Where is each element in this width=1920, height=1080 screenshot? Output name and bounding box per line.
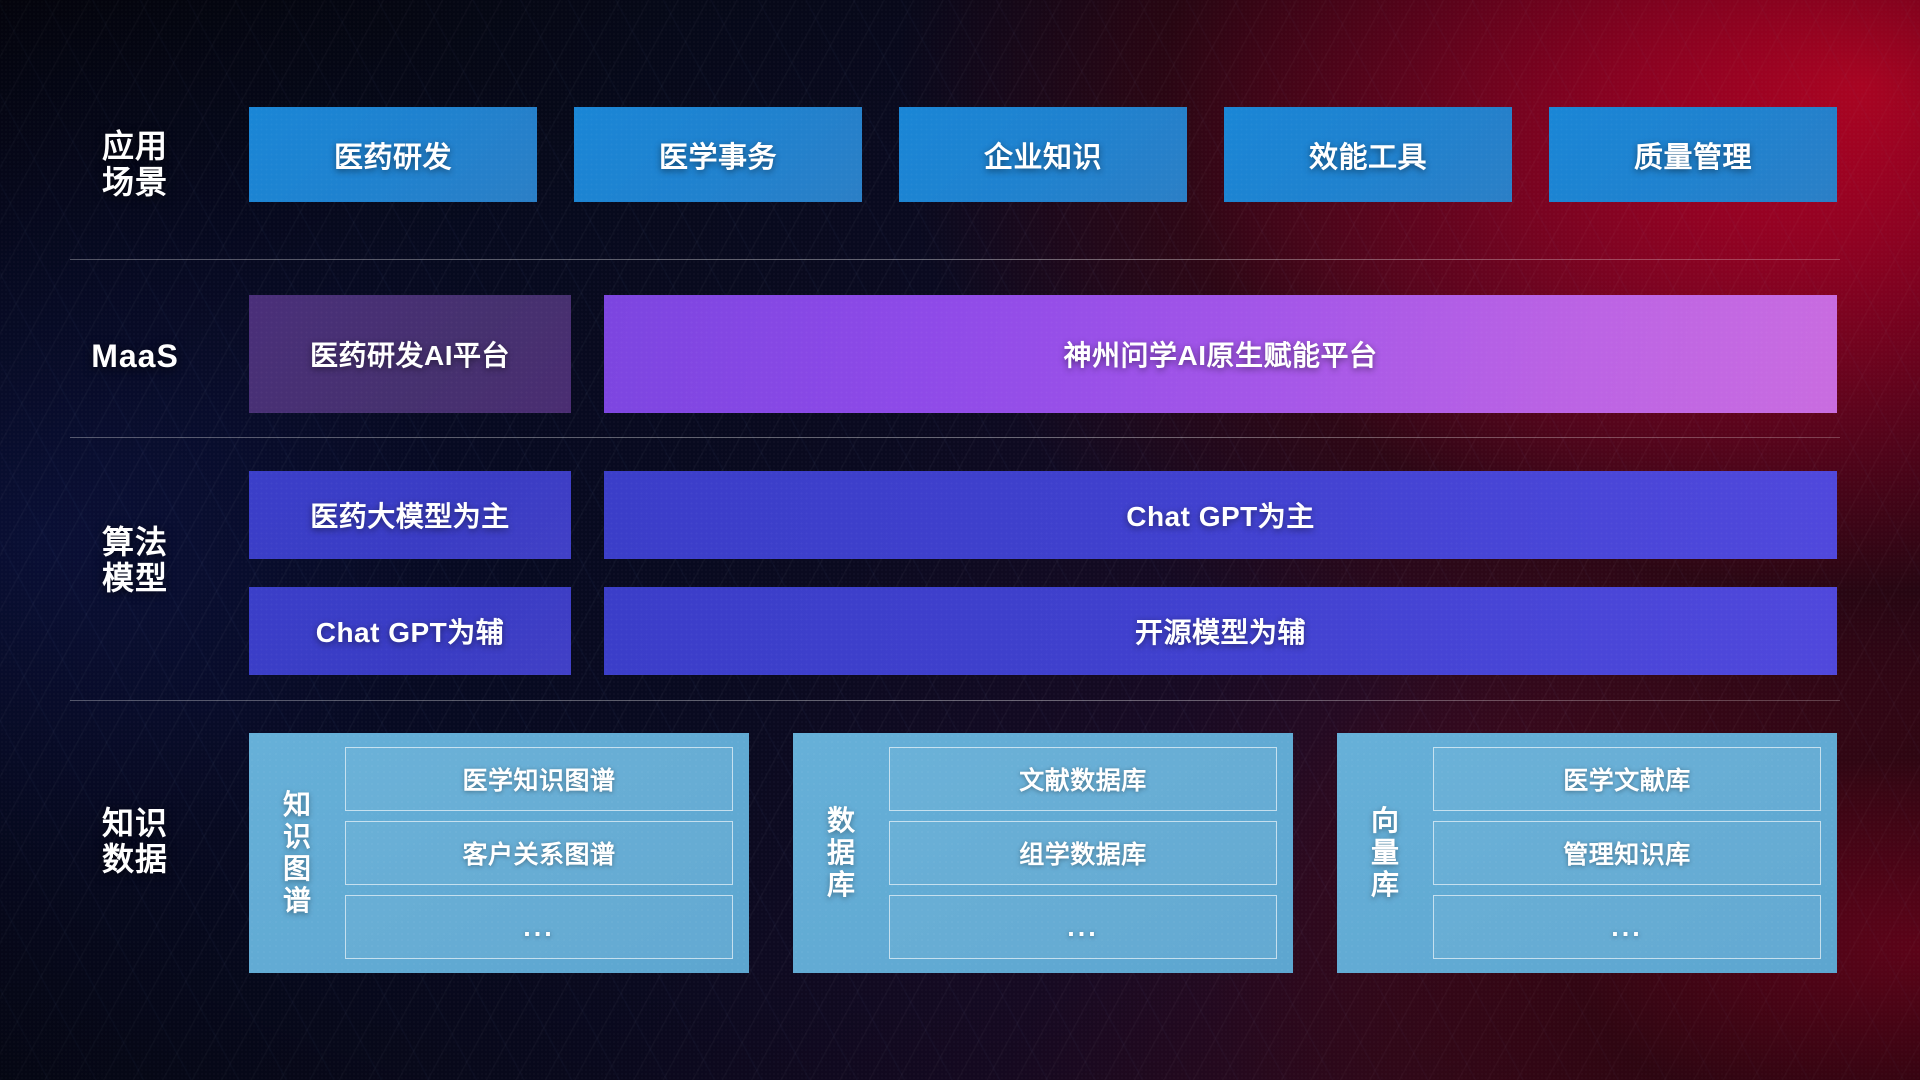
knowledge-panel-database[interactable]: 数 据 库 文献数据库 组学数据库 ... [793, 733, 1293, 973]
knowledge-item[interactable]: 医学知识图谱 [345, 747, 733, 811]
knowledge-panel-graph-items: 医学知识图谱 客户关系图谱 ... [333, 745, 737, 961]
kvert-char-1: 向 [1371, 805, 1399, 837]
tier-label-knowledge-line-1: 知识 [70, 805, 200, 841]
tier-label-algo-line-2: 模型 [70, 560, 200, 596]
algorithm-box-chatgpt-secondary[interactable]: Chat GPT为辅 [249, 587, 571, 675]
knowledge-panel-database-vertical-label: 数 据 库 [805, 745, 877, 961]
app-scenario-label-5: 质量管理 [1634, 134, 1752, 176]
kvert-char-3: 库 [827, 869, 855, 901]
knowledge-panel-graph-vertical-label: 知 识 图 谱 [261, 745, 333, 961]
algorithm-box-chatgpt-primary[interactable]: Chat GPT为主 [604, 471, 1837, 559]
kvert-char-2: 据 [827, 837, 855, 869]
tier-label-knowledge-line-2: 数据 [70, 841, 200, 877]
algorithm-label-pharma-primary: 医药大模型为主 [310, 495, 510, 535]
kvert-char-2: 识 [283, 821, 311, 853]
app-scenario-label-1: 医药研发 [334, 134, 452, 176]
tier-label-line-1: 应用 [70, 128, 200, 164]
algorithm-box-opensource-secondary[interactable]: 开源模型为辅 [604, 587, 1837, 675]
kvert-char-1: 数 [827, 805, 855, 837]
knowledge-item-label: 管理知识库 [1563, 835, 1691, 871]
divider-1 [70, 259, 1840, 260]
knowledge-item-label: ... [1067, 912, 1099, 943]
divider-2 [70, 437, 1840, 438]
tier-label-maas: MaaS [70, 338, 200, 374]
maas-box-pharma-platform[interactable]: 医药研发AI平台 [249, 295, 571, 413]
algorithm-label-chatgpt-secondary: Chat GPT为辅 [316, 611, 505, 651]
tier-label-algo-line-1: 算法 [70, 524, 200, 560]
algorithm-label-chatgpt-primary: Chat GPT为主 [1126, 495, 1315, 535]
knowledge-item[interactable]: 管理知识库 [1433, 821, 1821, 885]
knowledge-item-label: 医学知识图谱 [462, 761, 615, 797]
knowledge-panel-vector-vertical-label: 向 量 库 [1349, 745, 1421, 961]
knowledge-item-label: ... [1611, 912, 1643, 943]
knowledge-item-more[interactable]: ... [1433, 895, 1821, 959]
knowledge-item[interactable]: 组学数据库 [889, 821, 1277, 885]
kvert-char-3: 图 [283, 853, 311, 885]
app-scenario-label-4: 效能工具 [1309, 134, 1427, 176]
algorithm-box-pharma-primary[interactable]: 医药大模型为主 [249, 471, 571, 559]
kvert-char-1: 知 [283, 789, 311, 821]
knowledge-item[interactable]: 客户关系图谱 [345, 821, 733, 885]
tier-label-line-2: 场景 [70, 164, 200, 200]
app-scenario-box-5[interactable]: 质量管理 [1549, 107, 1837, 202]
knowledge-panel-database-items: 文献数据库 组学数据库 ... [877, 745, 1281, 961]
kvert-char-4: 谱 [283, 885, 311, 917]
tier-label-application-scenarios: 应用 场景 [70, 128, 200, 201]
maas-label-pharma-platform: 医药研发AI平台 [310, 334, 510, 374]
app-scenario-label-2: 医学事务 [659, 134, 777, 176]
kvert-char-3: 库 [1371, 869, 1399, 901]
divider-3 [70, 700, 1840, 701]
knowledge-item-more[interactable]: ... [345, 895, 733, 959]
knowledge-item-label: 客户关系图谱 [462, 835, 615, 871]
knowledge-item-label: ... [523, 912, 555, 943]
knowledge-item-more[interactable]: ... [889, 895, 1277, 959]
knowledge-panel-graph[interactable]: 知 识 图 谱 医学知识图谱 客户关系图谱 ... [249, 733, 749, 973]
knowledge-item[interactable]: 文献数据库 [889, 747, 1277, 811]
knowledge-panel-vector-items: 医学文献库 管理知识库 ... [1421, 745, 1825, 961]
app-scenario-box-4[interactable]: 效能工具 [1224, 107, 1512, 202]
knowledge-item-label: 文献数据库 [1019, 761, 1147, 797]
app-scenario-box-1[interactable]: 医药研发 [249, 107, 537, 202]
algorithm-label-opensource-secondary: 开源模型为辅 [1135, 611, 1306, 651]
architecture-diagram: 应用 场景 医药研发 医学事务 企业知识 效能工具 质量管理 MaaS 医药研发… [0, 0, 1920, 1080]
knowledge-item-label: 医学文献库 [1563, 761, 1691, 797]
app-scenario-box-2[interactable]: 医学事务 [574, 107, 862, 202]
kvert-char-2: 量 [1371, 837, 1399, 869]
maas-label-shenzhou-platform: 神州问学AI原生赋能平台 [1063, 334, 1377, 374]
knowledge-item-label: 组学数据库 [1019, 835, 1147, 871]
maas-box-shenzhou-platform[interactable]: 神州问学AI原生赋能平台 [604, 295, 1837, 413]
knowledge-panel-vector[interactable]: 向 量 库 医学文献库 管理知识库 ... [1337, 733, 1837, 973]
app-scenario-box-3[interactable]: 企业知识 [899, 107, 1187, 202]
knowledge-item[interactable]: 医学文献库 [1433, 747, 1821, 811]
tier-label-algorithm-models: 算法 模型 [70, 524, 200, 597]
tier-label-knowledge-data: 知识 数据 [70, 805, 200, 878]
tier-label-maas-text: MaaS [70, 338, 200, 374]
app-scenario-label-3: 企业知识 [984, 134, 1102, 176]
